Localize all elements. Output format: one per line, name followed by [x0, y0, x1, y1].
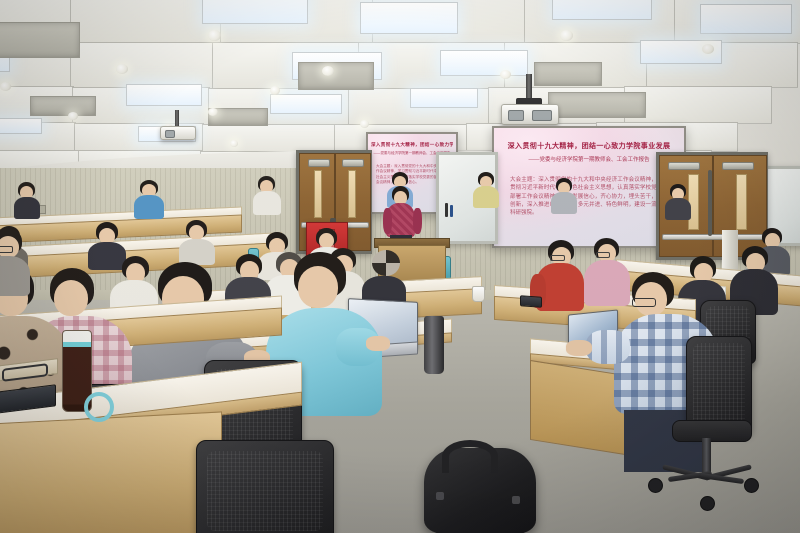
- ceiling-light-panel: [0, 118, 42, 134]
- paper-cup-center: [472, 286, 485, 302]
- chair-caster: [744, 478, 759, 493]
- chair-post-front-right: [702, 438, 711, 474]
- slide-title-left: 深入贯彻十九大精神，团结一心致力学院事业发展: [371, 142, 453, 148]
- downlight: [208, 108, 218, 116]
- downlight: [360, 120, 369, 128]
- downlight: [322, 66, 334, 76]
- bottle-strap: [84, 392, 114, 422]
- glasses: [596, 252, 610, 258]
- ceiling-light-panel: [360, 2, 458, 34]
- glasses: [550, 255, 565, 261]
- attendee-head: [54, 280, 88, 316]
- glasses: [0, 246, 13, 253]
- slide-subtitle-main: ——党委与经济学院第一期教师会、工会工作报告: [500, 155, 678, 163]
- ceiling-light-panel: [126, 84, 202, 106]
- slide-body-main: 大会主题：深入贯彻党的十九大和中央经济工作会议精神，学习贯彻习近平新时代中国特色…: [510, 176, 668, 232]
- backpack-buckle: [436, 492, 444, 500]
- attendee-hand: [366, 336, 390, 351]
- air-vent: [548, 92, 646, 118]
- projector-lens-left: [165, 130, 175, 138]
- chair-foreground[interactable]: [196, 440, 334, 533]
- chair-caster: [648, 478, 663, 493]
- air-vent: [30, 96, 96, 116]
- backpack-on-floor: [424, 448, 536, 533]
- backpack-buckle: [512, 496, 520, 504]
- door-closer: [308, 159, 330, 167]
- projector-lens: [508, 110, 524, 121]
- door-handle[interactable]: [708, 170, 712, 236]
- ceiling-light-panel: [202, 0, 308, 24]
- whiteboard-marker: [450, 205, 453, 217]
- door-closer: [342, 159, 364, 167]
- ceiling-light-panel: [410, 88, 478, 108]
- door-kick-plate: [348, 170, 356, 218]
- chair-seat-front-right[interactable]: [672, 420, 752, 442]
- door-closer: [668, 162, 700, 170]
- air-vent: [534, 62, 602, 86]
- ceiling-light-panel: [552, 0, 652, 20]
- ceiling-light-panel: [440, 50, 528, 76]
- downlight: [68, 112, 78, 120]
- desk-front-foreground: [0, 411, 222, 533]
- door-closer: [722, 162, 754, 170]
- backpack-strap: [442, 440, 498, 473]
- downlight: [560, 30, 573, 41]
- lecture-hall-photo: 深入贯彻十九大精神，团结一心致力学院事业发展 ——党委与经济学院第一期教师会、工…: [0, 0, 800, 533]
- projector-vent: [532, 110, 552, 121]
- ceiling-light-panel: [700, 4, 792, 34]
- downlight: [230, 140, 238, 147]
- door-push-bar: [662, 234, 764, 240]
- slide-title-main: 深入贯彻十九大精神，团结一心致力学院事业发展: [500, 141, 678, 151]
- projector-mount-pole: [526, 74, 532, 100]
- downlight: [0, 82, 11, 91]
- attendee-arm: [586, 330, 630, 364]
- downlight: [270, 86, 280, 95]
- presenter-arm-left: [383, 208, 392, 234]
- whiteboard-marker: [445, 203, 448, 217]
- air-vent: [298, 62, 374, 90]
- chair-caster: [700, 496, 715, 511]
- air-vent: [0, 22, 80, 58]
- downlight: [208, 30, 221, 41]
- door-kick-plate: [736, 174, 747, 230]
- ceiling-projector-left: [160, 126, 196, 140]
- black-thermos: [424, 316, 444, 374]
- glasses: [632, 298, 656, 307]
- downlight: [702, 44, 714, 54]
- ceiling-light-panel: [270, 94, 342, 114]
- presenter-arm-right: [413, 208, 422, 234]
- door-kick-plate: [314, 170, 322, 218]
- downlight: [116, 64, 128, 74]
- downlight: [500, 70, 511, 79]
- attendee-head: [298, 266, 338, 308]
- smartphone-on-desk-right: [520, 295, 542, 308]
- ceiling-projector: [501, 104, 559, 125]
- attendee-hand: [566, 340, 592, 356]
